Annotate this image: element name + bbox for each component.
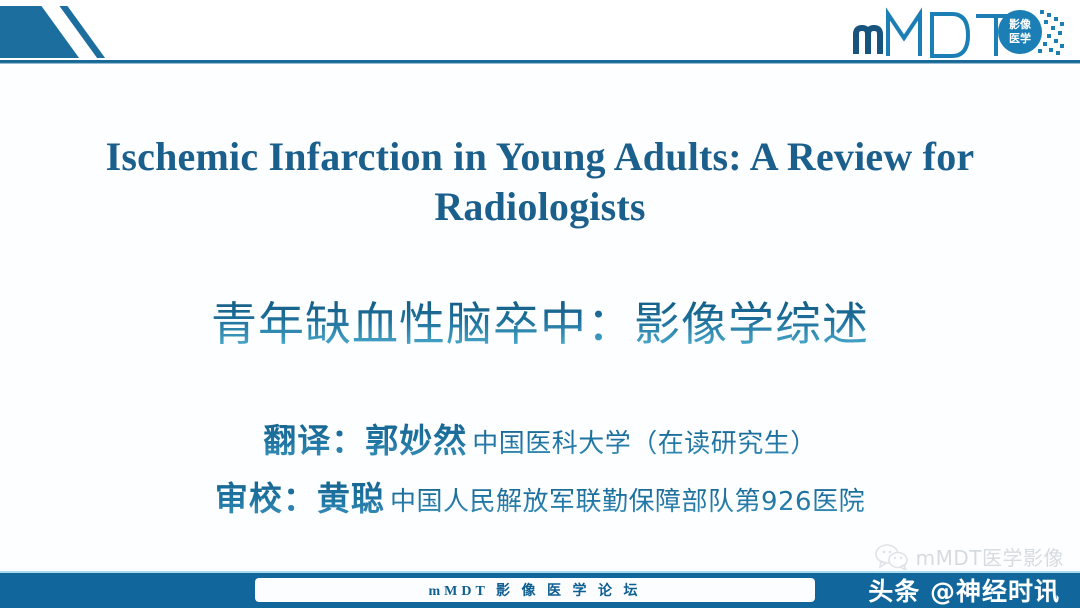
credit-role-label: 审校：	[215, 479, 317, 518]
slide-title-chinese: 青年缺血性脑卒中：影像学综述	[60, 295, 1020, 353]
watermark-account-text: mMDT医学影像	[916, 542, 1064, 571]
logo-badge-line1: 影像	[1009, 17, 1032, 31]
presentation-slide: 影像 医学 Ischemic Infarction in Young Adult…	[0, 0, 1080, 608]
credit-affiliation: 中国医科大学（在读研究生）	[472, 429, 817, 459]
watermark-wechat-account: mMDT医学影像	[875, 542, 1064, 571]
logo-badge-line2: 医学	[1009, 31, 1031, 45]
mmdt-logo: 影像 医学	[848, 4, 1066, 60]
footer-banner-text: mMDT 影 像 医 学 论 坛	[428, 580, 641, 600]
credit-line-reviewer: 审校：黄聪 中国人民解放军联勤保障部队第926医院	[60, 473, 1020, 531]
credit-line-translator: 翻译：郭妙然 中国医科大学（在读研究生）	[60, 415, 1020, 473]
credit-person-name: 郭妙然	[365, 421, 467, 460]
credit-affiliation: 中国人民解放军联勤保障部队第926医院	[390, 487, 865, 517]
wechat-icon	[875, 544, 909, 570]
credits-block: 翻译：郭妙然 中国医科大学（在读研究生） 审校：黄聪 中国人民解放军联勤保障部队…	[60, 415, 1020, 531]
diagonal-stripes-decoration	[0, 6, 130, 63]
credit-person-name: 黄聪	[317, 479, 385, 518]
slide-header: 影像 医学	[0, 0, 1080, 68]
watermark-toutiao: 头条 @神经时讯	[868, 572, 1060, 608]
footer-banner-box: mMDT 影 像 医 学 论 坛	[255, 578, 815, 602]
header-divider-rule	[0, 60, 1080, 64]
credit-role-label: 翻译：	[263, 421, 365, 460]
slide-title-english: Ischemic Infarction in Young Adults: A R…	[60, 132, 1020, 232]
